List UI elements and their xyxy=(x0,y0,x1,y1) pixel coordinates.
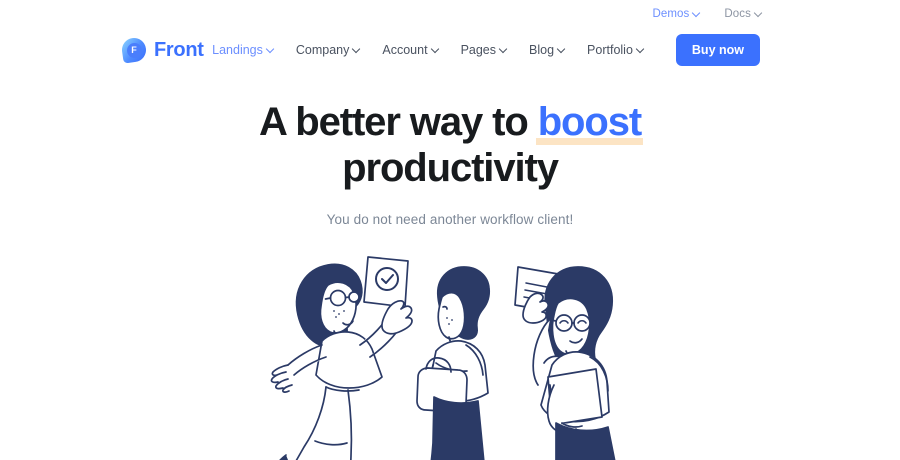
chevron-down-icon xyxy=(267,46,274,53)
hero-title-line2: productivity xyxy=(342,146,558,190)
nav-item-landings-label: Landings xyxy=(212,43,263,57)
utility-link-demos[interactable]: Demos xyxy=(652,8,700,20)
nav-links: Landings Company Account Pages Blog Port… xyxy=(212,34,760,66)
nav-item-company[interactable]: Company xyxy=(296,43,361,57)
page-title: A better way to boost productivity xyxy=(0,100,900,190)
brand-name: Front xyxy=(154,39,204,62)
hero-title-highlight: boost xyxy=(538,100,641,146)
chevron-down-icon xyxy=(500,46,507,53)
nav-item-account[interactable]: Account xyxy=(382,43,438,57)
buy-now-button[interactable]: Buy now xyxy=(676,34,760,66)
chevron-down-icon xyxy=(637,46,644,53)
logo-letter: F xyxy=(127,43,142,58)
three-people-with-documents-illustration xyxy=(230,245,670,460)
nav-item-pages-label: Pages xyxy=(461,43,496,57)
main-navigation: F Front Landings Company Account Pages B… xyxy=(0,28,900,72)
hero-title-line1-prefix: A better way to xyxy=(259,100,538,144)
utility-link-demos-label: Demos xyxy=(652,8,689,20)
utility-link-docs[interactable]: Docs xyxy=(724,8,762,20)
hero-subtitle: You do not need another workflow client! xyxy=(0,212,900,227)
chevron-down-icon xyxy=(755,10,762,17)
hero-section: A better way to boost productivity You d… xyxy=(0,72,900,460)
chevron-down-icon xyxy=(693,10,700,17)
nav-item-blog[interactable]: Blog xyxy=(529,43,565,57)
front-droplet-logo-icon: F xyxy=(122,38,146,62)
nav-item-portfolio[interactable]: Portfolio xyxy=(587,43,644,57)
chevron-down-icon xyxy=(432,46,439,53)
nav-item-pages[interactable]: Pages xyxy=(461,43,507,57)
utility-bar: Demos Docs xyxy=(0,0,900,28)
chevron-down-icon xyxy=(353,46,360,53)
utility-link-docs-label: Docs xyxy=(724,8,751,20)
nav-item-landings[interactable]: Landings xyxy=(212,43,274,57)
chevron-down-icon xyxy=(558,46,565,53)
nav-item-company-label: Company xyxy=(296,43,350,57)
nav-item-portfolio-label: Portfolio xyxy=(587,43,633,57)
nav-item-account-label: Account xyxy=(382,43,427,57)
nav-item-blog-label: Blog xyxy=(529,43,554,57)
brand-logo[interactable]: F Front xyxy=(122,38,204,62)
